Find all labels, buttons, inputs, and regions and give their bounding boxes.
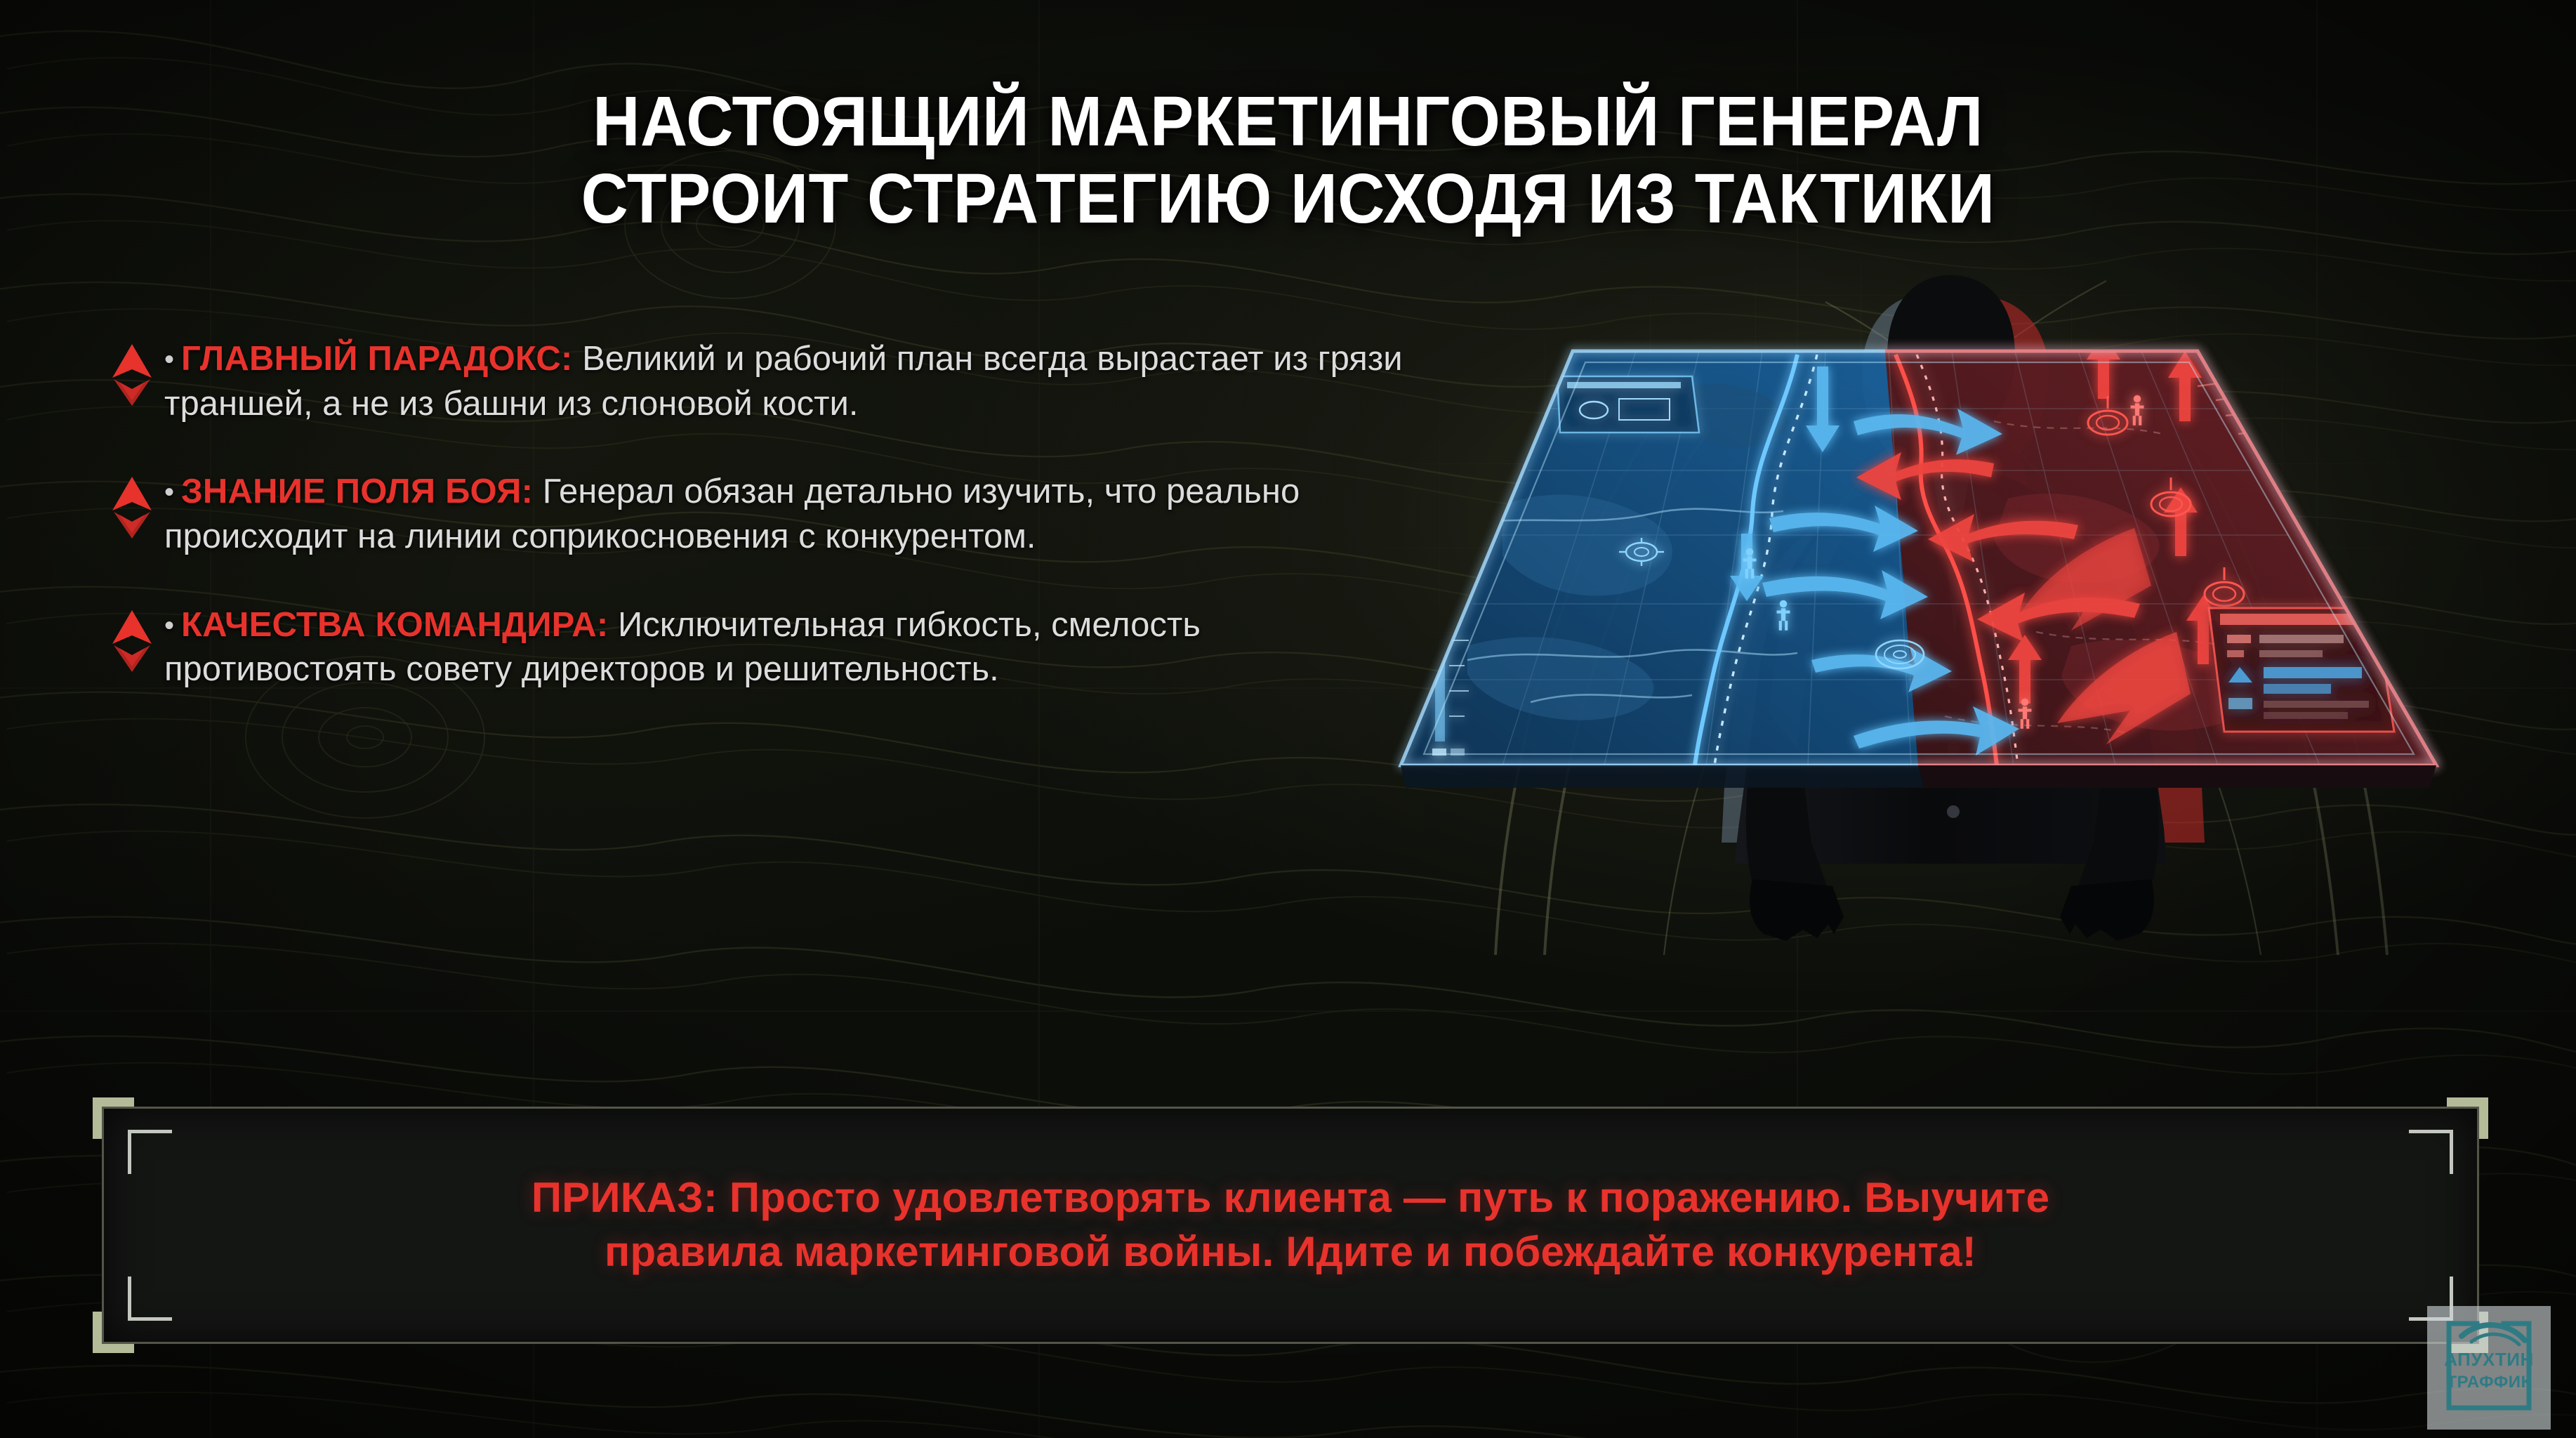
blue-hud-panel — [1557, 376, 1699, 433]
list-item: •КАЧЕСТВА КОМАНДИРА: Исключительная гибк… — [105, 603, 1418, 692]
order-callout-panel: ПРИКАЗ: Просто удовлетворять клиента — п… — [102, 1107, 2479, 1344]
bullet-list: •ГЛАВНЫЙ ПАРАДОКС: Великий и рабочий пла… — [105, 337, 1418, 692]
bullet-dot: • — [164, 610, 174, 641]
list-item: •ГЛАВНЫЙ ПАРАДОКС: Великий и рабочий пла… — [105, 337, 1418, 426]
red-chevron-marker-icon — [105, 474, 159, 541]
order-text-block: ПРИКАЗ: Просто удовлетворять клиента — п… — [104, 1109, 2477, 1342]
order-line-1: ПРИКАЗ: Просто удовлетворять клиента — п… — [531, 1171, 2049, 1225]
list-item-body: •КАЧЕСТВА КОМАНДИРА: Исключительная гибк… — [164, 603, 1418, 692]
crop-bracket-top-left-icon — [128, 1130, 172, 1174]
page-title: НАСТОЯЩИЙ МАРКЕТИНГОВЫЙ ГЕНЕРАЛ СТРОИТ С… — [0, 83, 2576, 237]
bullet-dot: • — [164, 477, 174, 508]
bullet-dot: • — [164, 344, 174, 375]
watermark-logo: АПУХТИН ТРАФФИК — [2427, 1306, 2551, 1430]
red-chevron-marker-icon — [105, 607, 159, 675]
page-title-line-2: СТРОИТ СТРАТЕГИЮ ИСХОДЯ ИЗ ТАКТИКИ — [90, 160, 2485, 237]
list-item-term: ЗНАНИЕ ПОЛЯ БОЯ: — [181, 473, 533, 510]
tactical-war-map-table — [1401, 334, 2436, 788]
list-item-body: •ЗНАНИЕ ПОЛЯ БОЯ: Генерал обязан детальн… — [164, 470, 1418, 559]
watermark-line-2: ТРАФФИК — [2436, 1373, 2542, 1392]
list-item-term: КАЧЕСТВА КОМАНДИРА: — [181, 606, 608, 644]
crop-bracket-bottom-left-icon — [128, 1277, 172, 1321]
red-chevron-marker-icon — [105, 341, 159, 409]
list-item-term: ГЛАВНЫЙ ПАРАДОКС: — [181, 340, 572, 378]
war-room-illustration — [1362, 211, 2576, 1074]
infographic-slide: НАСТОЯЩИЙ МАРКЕТИНГОВЫЙ ГЕНЕРАЛ СТРОИТ С… — [0, 0, 2576, 1438]
list-item: •ЗНАНИЕ ПОЛЯ БОЯ: Генерал обязан детальн… — [105, 470, 1418, 559]
crop-bracket-top-right-icon — [2409, 1130, 2453, 1174]
list-item-body: •ГЛАВНЫЙ ПАРАДОКС: Великий и рабочий пла… — [164, 337, 1418, 426]
order-line-2: правила маркетинговой войны. Идите и поб… — [605, 1225, 1976, 1279]
watermark-line-1: АПУХТИН — [2436, 1349, 2542, 1371]
page-title-line-1: НАСТОЯЩИЙ МАРКЕТИНГОВЫЙ ГЕНЕРАЛ — [90, 83, 2485, 160]
